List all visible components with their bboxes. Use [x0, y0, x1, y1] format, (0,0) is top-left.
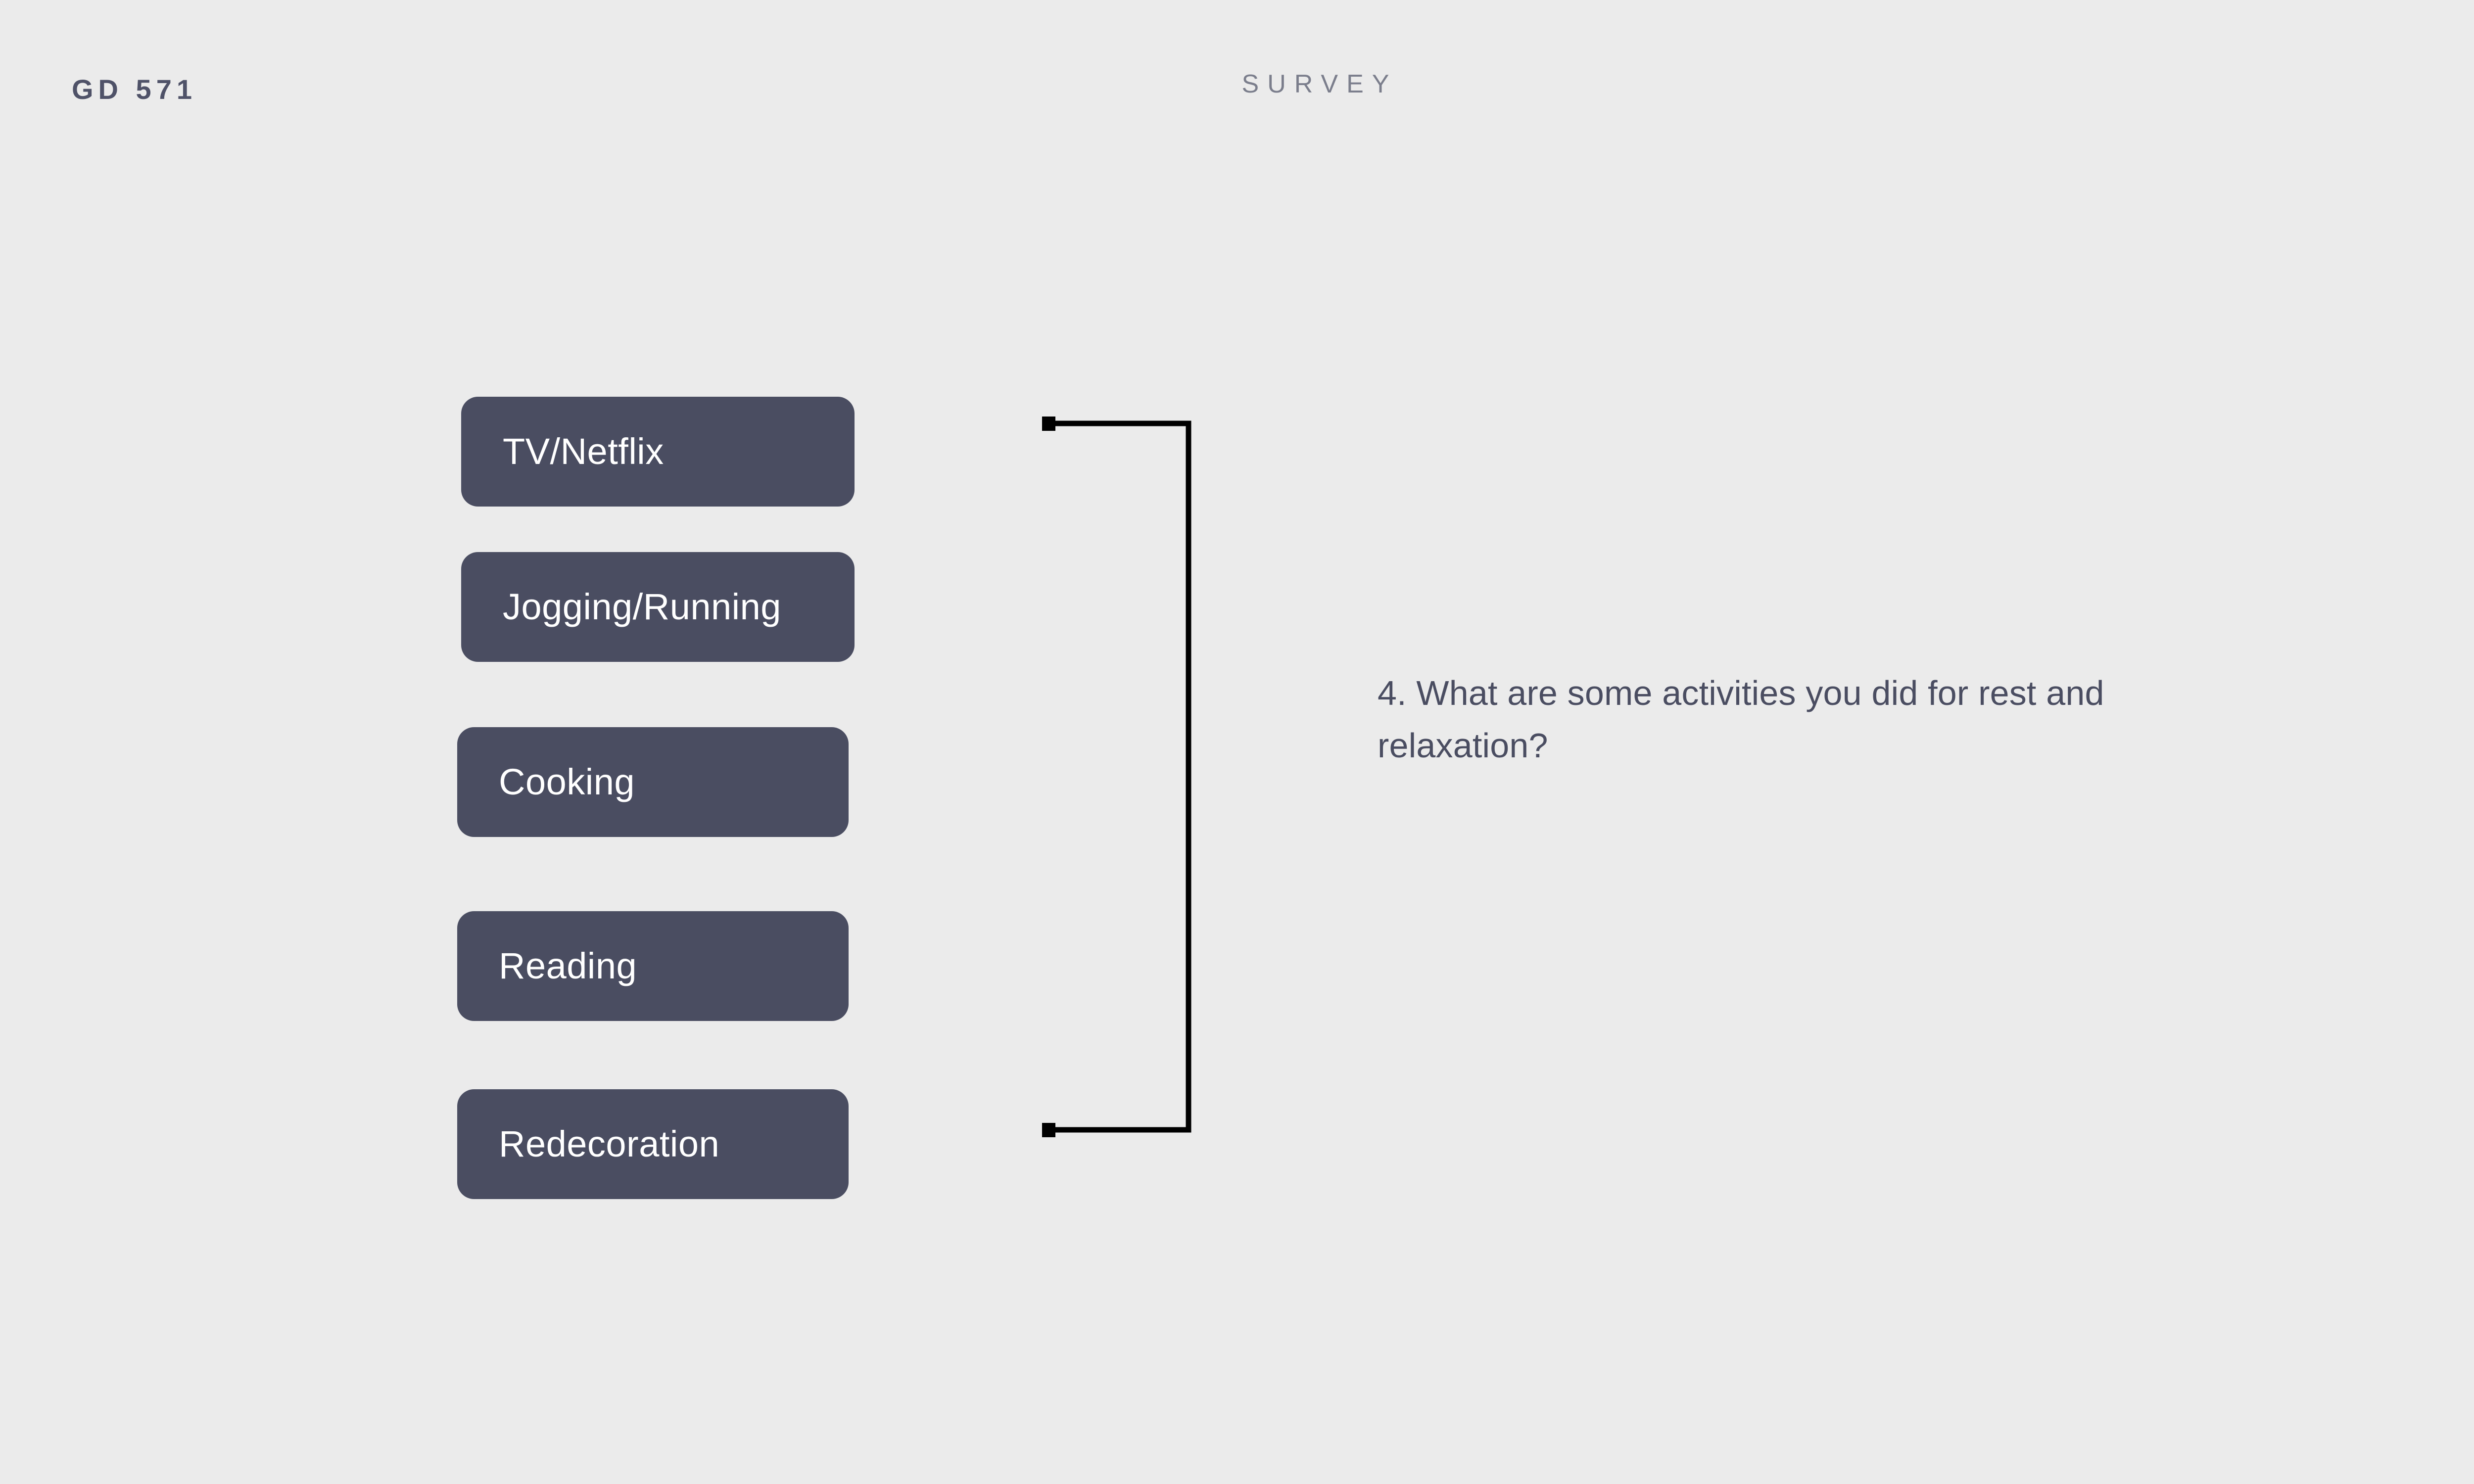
slide-canvas: GD 571 SURVEY 18 TV/Netflix Jogging/Runn…: [0, 0, 2474, 1484]
option-label: Reading: [499, 948, 637, 984]
option-button-cooking[interactable]: Cooking: [457, 727, 849, 837]
option-button-redecoration[interactable]: Redecoration: [457, 1089, 849, 1199]
option-label: TV/Netflix: [503, 433, 664, 470]
bracket-connector-icon: [1034, 406, 1202, 1148]
option-label: Redecoration: [499, 1126, 719, 1162]
option-label: Jogging/Running: [503, 589, 781, 625]
option-button-tv-netflix[interactable]: TV/Netflix: [461, 397, 855, 507]
option-button-jogging-running[interactable]: Jogging/Running: [461, 552, 855, 662]
option-label: Cooking: [499, 764, 635, 800]
question-text: 4. What are some activities you did for …: [1378, 667, 2179, 772]
option-button-reading[interactable]: Reading: [457, 911, 849, 1021]
page-title: SURVEY: [0, 69, 2474, 99]
